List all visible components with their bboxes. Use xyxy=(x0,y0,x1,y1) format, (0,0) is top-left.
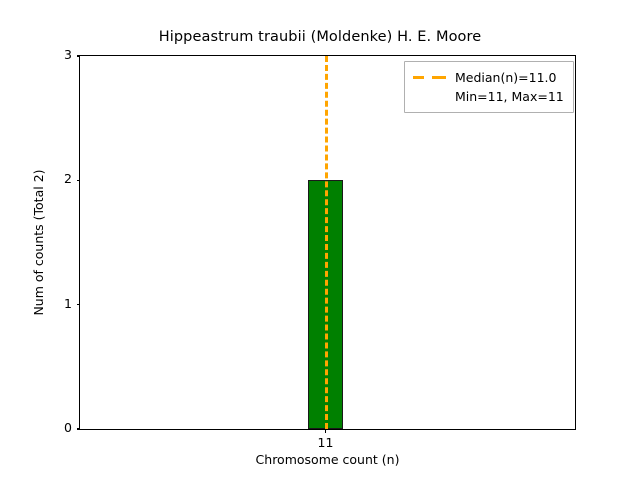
y-tick-label: 0 xyxy=(64,420,72,435)
legend-label: Median(n)=11.0 xyxy=(455,70,556,85)
y-tick-mark xyxy=(77,55,81,56)
plot-area: 0 1 2 3 11 Median(n)=11.0 xyxy=(79,55,576,430)
y-axis-label: Num of counts (Total 2) xyxy=(31,55,49,430)
x-axis-label: Chromosome count (n) xyxy=(79,452,576,467)
legend-label: Min=11, Max=11 xyxy=(455,89,564,104)
page-title: Hippeastrum traubii (Moldenke) H. E. Moo… xyxy=(0,29,640,45)
chart-figure: Hippeastrum traubii (Moldenke) H. E. Moo… xyxy=(0,0,640,480)
x-tick-label: 11 xyxy=(286,435,366,450)
legend-item-median: Median(n)=11.0 xyxy=(413,68,564,87)
x-tick-mark xyxy=(325,429,326,433)
y-tick-mark xyxy=(77,304,81,305)
y-tick-label: 1 xyxy=(64,296,72,311)
y-tick-mark xyxy=(77,180,81,181)
dashed-line-icon xyxy=(413,72,446,84)
y-tick-label: 2 xyxy=(64,171,72,186)
legend: Median(n)=11.0 Min=11, Max=11 xyxy=(404,61,574,113)
y-tick-label: 3 xyxy=(64,47,72,62)
median-line xyxy=(325,56,328,429)
y-tick-mark xyxy=(77,428,81,429)
legend-item-minmax: Min=11, Max=11 xyxy=(413,87,564,106)
